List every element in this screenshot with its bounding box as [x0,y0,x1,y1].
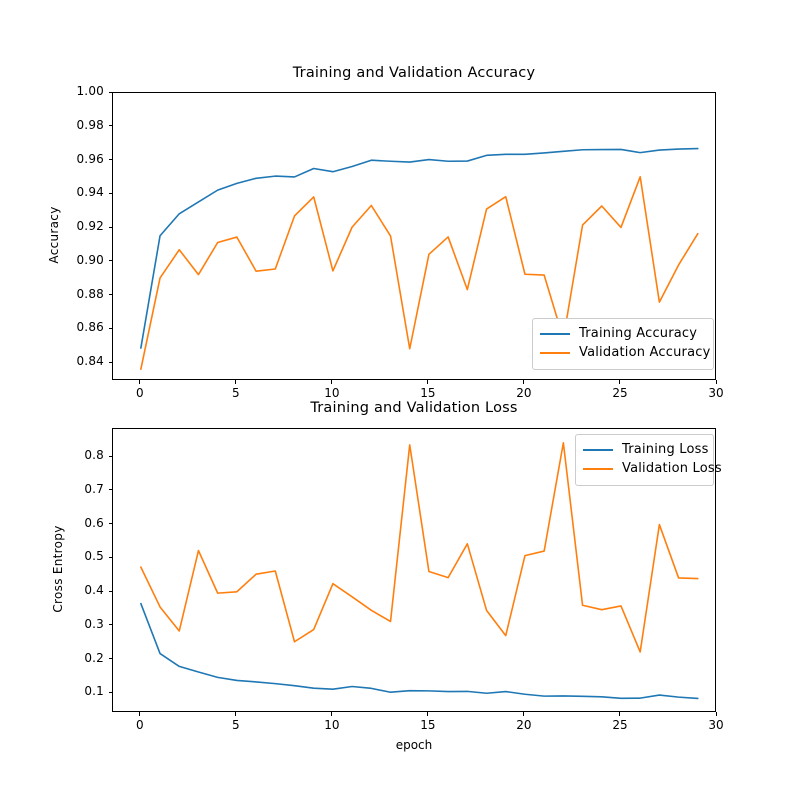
loss-chart-title: Training and Validation Loss [112,400,716,416]
accuracy-legend[interactable]: Training Accuracy Validation Accuracy [532,318,714,370]
y-tick-label: 0.90 [36,253,104,267]
y-tick-label: 0.2 [36,651,104,665]
y-tick-mark [109,92,113,93]
y-tick-mark [109,159,113,160]
y-tick-label: 0.5 [36,549,104,563]
series-line [141,604,698,699]
accuracy-chart-title: Training and Validation Accuracy [112,65,716,81]
x-tick-label: 30 [691,386,741,400]
x-tick-label: 0 [115,386,165,400]
x-tick-label: 30 [691,718,741,732]
legend-item[interactable]: Validation Accuracy [540,343,705,362]
y-tick-label: 0.94 [36,185,104,199]
x-tick-mark [427,712,428,716]
y-tick-label: 0.88 [36,287,104,301]
x-tick-mark [716,380,717,384]
y-tick-mark [109,456,113,457]
y-tick-mark [109,557,113,558]
y-tick-mark [109,125,113,126]
y-tick-label: 0.7 [36,482,104,496]
legend-item[interactable]: Validation Loss [583,459,705,478]
legend-item[interactable]: Training Accuracy [540,324,705,343]
x-tick-mark [331,380,332,384]
y-tick-mark [109,328,113,329]
x-tick-mark [235,380,236,384]
x-tick-label: 15 [403,386,453,400]
x-tick-mark [523,380,524,384]
y-tick-mark [109,591,113,592]
y-tick-label: 0.6 [36,516,104,530]
x-tick-mark [523,712,524,716]
x-tick-mark [619,712,620,716]
matplotlib-figure: Training and Validation Accuracy Accurac… [0,0,800,800]
x-tick-mark [331,712,332,716]
x-tick-label: 10 [307,718,357,732]
y-tick-label: 1.00 [36,84,104,98]
x-tick-label: 5 [211,718,261,732]
x-tick-mark [235,712,236,716]
x-tick-mark [619,380,620,384]
y-tick-mark [109,193,113,194]
y-tick-label: 0.84 [36,354,104,368]
training-accuracy-color-swatch [540,333,570,335]
x-tick-label: 25 [595,386,645,400]
y-tick-label: 0.96 [36,152,104,166]
y-tick-mark [109,260,113,261]
legend-label: Training Loss [622,442,709,457]
y-tick-label: 0.86 [36,320,104,334]
y-tick-mark [109,624,113,625]
y-tick-label: 0.1 [36,684,104,698]
legend-label: Validation Accuracy [579,345,710,360]
x-tick-mark [139,712,140,716]
y-tick-mark [109,294,113,295]
x-tick-mark [716,712,717,716]
x-tick-mark [139,380,140,384]
y-tick-label: 0.3 [36,617,104,631]
x-tick-label: 15 [403,718,453,732]
figure-x-axis-label: epoch [112,738,716,752]
validation-loss-color-swatch [583,468,613,470]
y-tick-mark [109,658,113,659]
x-tick-label: 20 [499,386,549,400]
y-tick-mark [109,227,113,228]
x-tick-label: 5 [211,386,261,400]
y-tick-label: 0.4 [36,583,104,597]
training-loss-color-swatch [583,449,613,451]
x-tick-label: 10 [307,386,357,400]
legend-label: Training Accuracy [579,326,697,341]
x-tick-label: 0 [115,718,165,732]
x-tick-label: 25 [595,718,645,732]
x-tick-mark [427,380,428,384]
y-tick-mark [109,489,113,490]
y-tick-label: 0.8 [36,448,104,462]
y-tick-mark [109,362,113,363]
y-tick-mark [109,523,113,524]
validation-accuracy-color-swatch [540,352,570,354]
legend-label: Validation Loss [622,461,722,476]
loss-legend[interactable]: Training Loss Validation Loss [575,434,714,486]
y-tick-label: 0.92 [36,219,104,233]
y-tick-mark [109,692,113,693]
legend-item[interactable]: Training Loss [583,440,705,459]
y-tick-label: 0.98 [36,118,104,132]
x-tick-label: 20 [499,718,549,732]
